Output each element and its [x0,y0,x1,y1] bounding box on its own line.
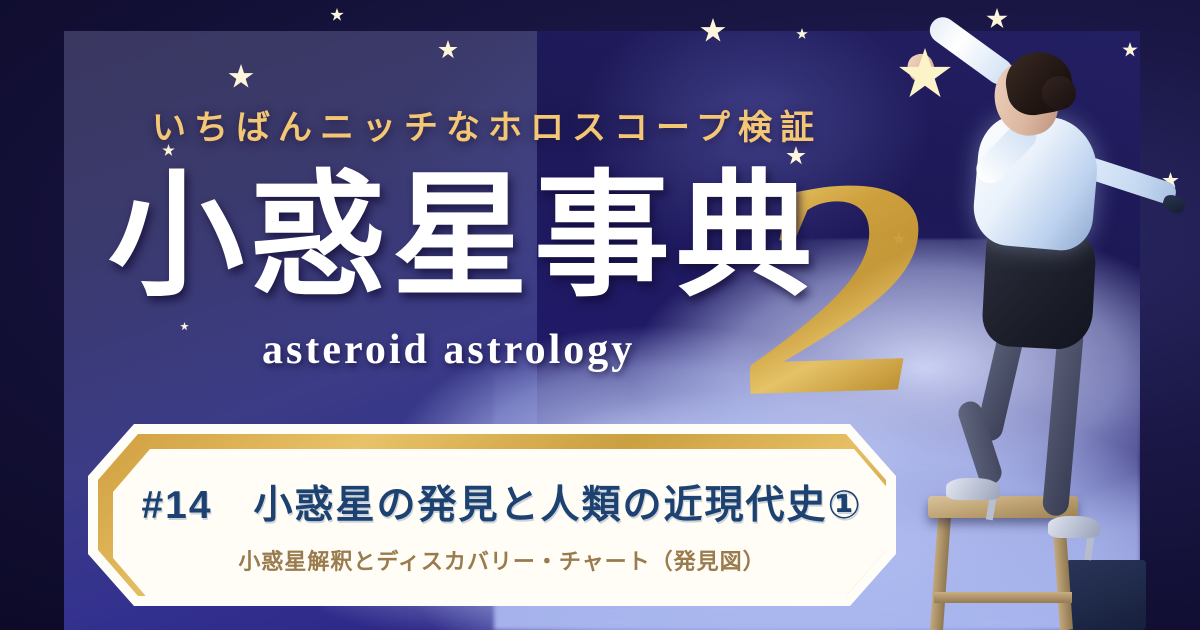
stool-leg-left [930,516,951,630]
kicker-text: いちばんニッチなホロスコープ検証 [152,100,812,149]
held-star-icon [898,48,952,102]
page-title-romaji: asteroid astrology [262,326,822,374]
hair-bun [1042,76,1076,110]
shoe-back [1048,516,1100,538]
episode-banner: #14 小惑星の発見と人類の近現代史① 小惑星解釈とディスカバリー・チャート（発… [88,424,896,606]
leg-back [1042,325,1084,517]
episode-subtitle: 小惑星解釈とディスカバリー・チャート（発見図） [238,544,765,576]
woman-reaching-star-photo [880,0,1180,630]
page-title: 小惑星事典 [108,168,888,304]
banner-face: #14 小惑星の発見と人類の近現代史① 小惑星解釈とディスカバリー・チャート（発… [113,449,891,601]
stool-crossbar [934,592,1072,603]
banner-gold-border: #14 小惑星の発見と人類の近現代史① 小惑星解釈とディスカバリー・チャート（発… [98,434,886,596]
eyecatch-canvas: 2 いちばんニッチなホロスコープ検証 小惑星事典 asteroid astrol… [0,0,1200,630]
shoe-front [946,478,1000,500]
episode-title: #14 小惑星の発見と人類の近現代史① [141,474,862,530]
stool-shadow-block [1066,560,1146,630]
